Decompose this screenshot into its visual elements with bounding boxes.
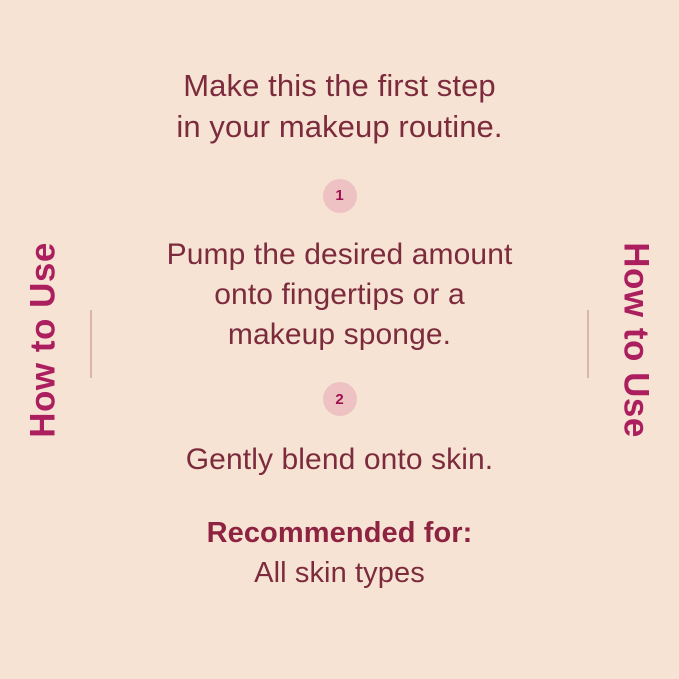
left-rail-label: How to Use [26, 242, 61, 438]
step-text-2: Gently blend onto skin. [165, 440, 515, 480]
step-text-1: Pump the desired amount onto fingertips … [165, 235, 515, 356]
step-number-2: 2 [335, 392, 343, 407]
recommendation-title: Recommended for: [207, 515, 473, 553]
right-rail-label: How to Use [619, 242, 654, 438]
main-content: Make this the first step in your makeup … [110, 0, 569, 679]
recommendation-value: All skin types [207, 554, 473, 592]
step-number-1: 1 [335, 188, 343, 203]
right-rail-divider [587, 310, 589, 378]
right-rail-inner: How to Use [569, 0, 679, 679]
left-rail-divider [90, 310, 92, 378]
step-number-badge-2: 2 [323, 382, 357, 416]
intro-text: Make this the first step in your makeup … [175, 66, 505, 148]
step-number-badge-1: 1 [323, 179, 357, 213]
left-rail-inner: How to Use [0, 0, 110, 679]
right-rail: How to Use [569, 0, 679, 679]
how-to-use-card: How to Use Make this the first step in y… [0, 0, 679, 679]
recommendation-block: Recommended for: All skin types [207, 515, 473, 593]
left-rail: How to Use [0, 0, 110, 679]
